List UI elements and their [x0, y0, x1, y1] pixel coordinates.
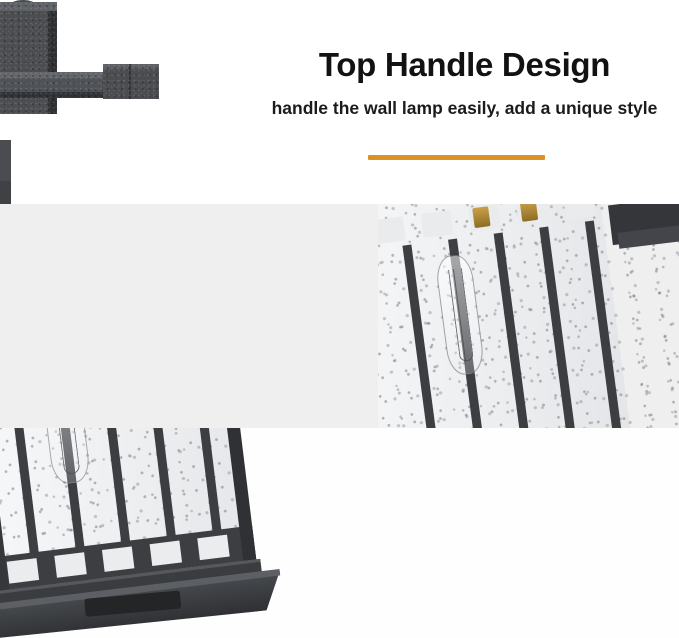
- open-base-rotation-group: [0, 428, 300, 638]
- panel-top-handle-title: Top Handle Design: [250, 48, 679, 83]
- panel-top-handle: Top Handle Design handle the wall lamp e…: [0, 0, 679, 204]
- handle-base-block: [103, 64, 159, 99]
- panel-open-base: Open-base Structure easy to replace the …: [0, 428, 679, 638]
- base-grid-square: [54, 552, 86, 577]
- base-grid-square: [150, 541, 182, 566]
- glass-top-square: [378, 216, 406, 244]
- handle-base-highlight: [103, 64, 159, 69]
- lamp-arm-highlight: [0, 72, 112, 78]
- base-grid-square: [197, 535, 229, 560]
- bulb-socket-brass: [472, 206, 490, 228]
- infographic-page: Top Handle Design handle the wall lamp e…: [0, 0, 679, 638]
- panel-top-handle-divider: [368, 155, 545, 160]
- base-grid-square: [7, 558, 39, 583]
- handle-leg-right: [0, 181, 11, 204]
- glass-top-square: [420, 210, 453, 238]
- handle-leg-left: [0, 140, 11, 181]
- panel-top-handle-subtitle: handle the wall lamp easily, add a uniqu…: [250, 97, 679, 120]
- panel-seeded-glass: Seeded Glass Shade High quality, resist …: [0, 204, 679, 428]
- seeded-glass-image: [378, 204, 679, 428]
- lamp-arm-shadow: [0, 92, 112, 98]
- wall-mount-plate-shadow: [48, 11, 57, 114]
- open-base-image: [0, 428, 300, 638]
- handle-base-seam: [129, 64, 131, 99]
- panel-top-handle-text: Top Handle Design handle the wall lamp e…: [250, 48, 679, 119]
- base-grid-square: [102, 546, 134, 571]
- bulb-socket-brass: [520, 204, 538, 222]
- wall-mount-plate-edge: [0, 2, 57, 11]
